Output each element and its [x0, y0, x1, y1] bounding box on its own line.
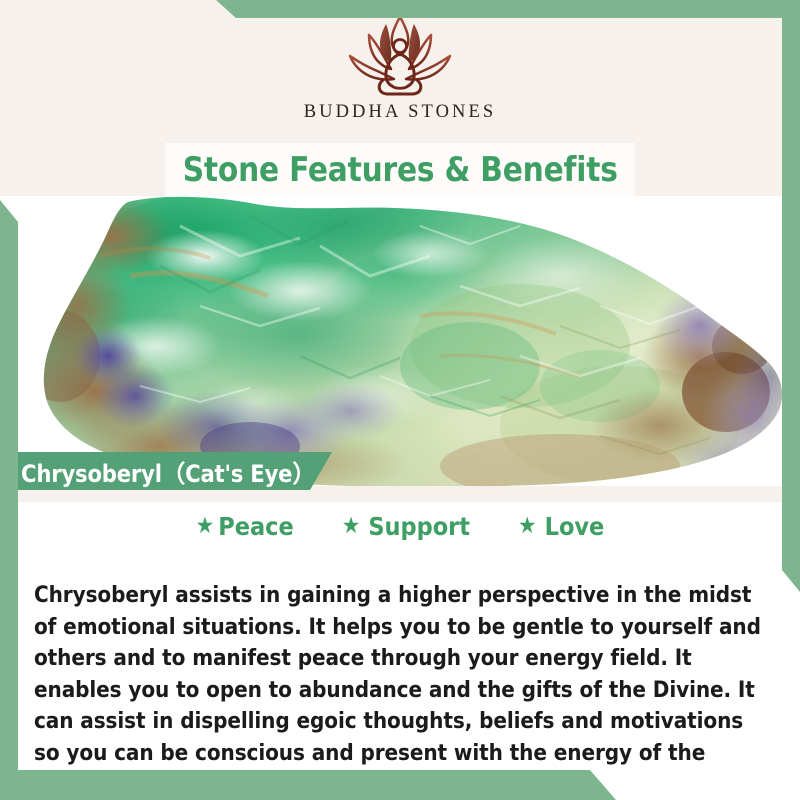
- lotus-meditation-icon: [340, 14, 460, 100]
- star-icon: ★: [196, 515, 215, 538]
- stone-photo-image: [0, 196, 800, 486]
- benefit-label: Support: [368, 512, 470, 541]
- benefit-support: ★ Support: [342, 512, 470, 541]
- star-icon: ★: [342, 515, 361, 538]
- page-title: Stone Features & Benefits: [183, 150, 618, 190]
- stone-name: Chrysoberyl（Cat's Eye）: [21, 454, 316, 489]
- description-text: Chrysoberyl assists in gaining a higher …: [34, 580, 764, 800]
- frame-left-border: [0, 200, 18, 800]
- brand-name: BUDDHA STONES: [0, 102, 800, 123]
- stone-name-banner: Chrysoberyl（Cat's Eye）: [0, 452, 332, 490]
- page-title-box: Stone Features & Benefits: [165, 143, 635, 196]
- brand-logo: BUDDHA STONES: [0, 14, 800, 123]
- benefit-love: ★ Love: [518, 512, 604, 541]
- star-icon: ★: [518, 515, 537, 538]
- product-info-poster: BUDDHA STONES Stone Features & Benefits: [0, 0, 800, 800]
- benefit-label: Love: [545, 512, 605, 541]
- frame-right-border: [782, 0, 800, 592]
- stone-photo: [0, 196, 800, 486]
- benefit-peace: ★ Peace: [196, 512, 294, 541]
- benefits-row: ★ Peace ★ Support ★ Love: [0, 512, 800, 541]
- benefit-label: Peace: [218, 512, 294, 541]
